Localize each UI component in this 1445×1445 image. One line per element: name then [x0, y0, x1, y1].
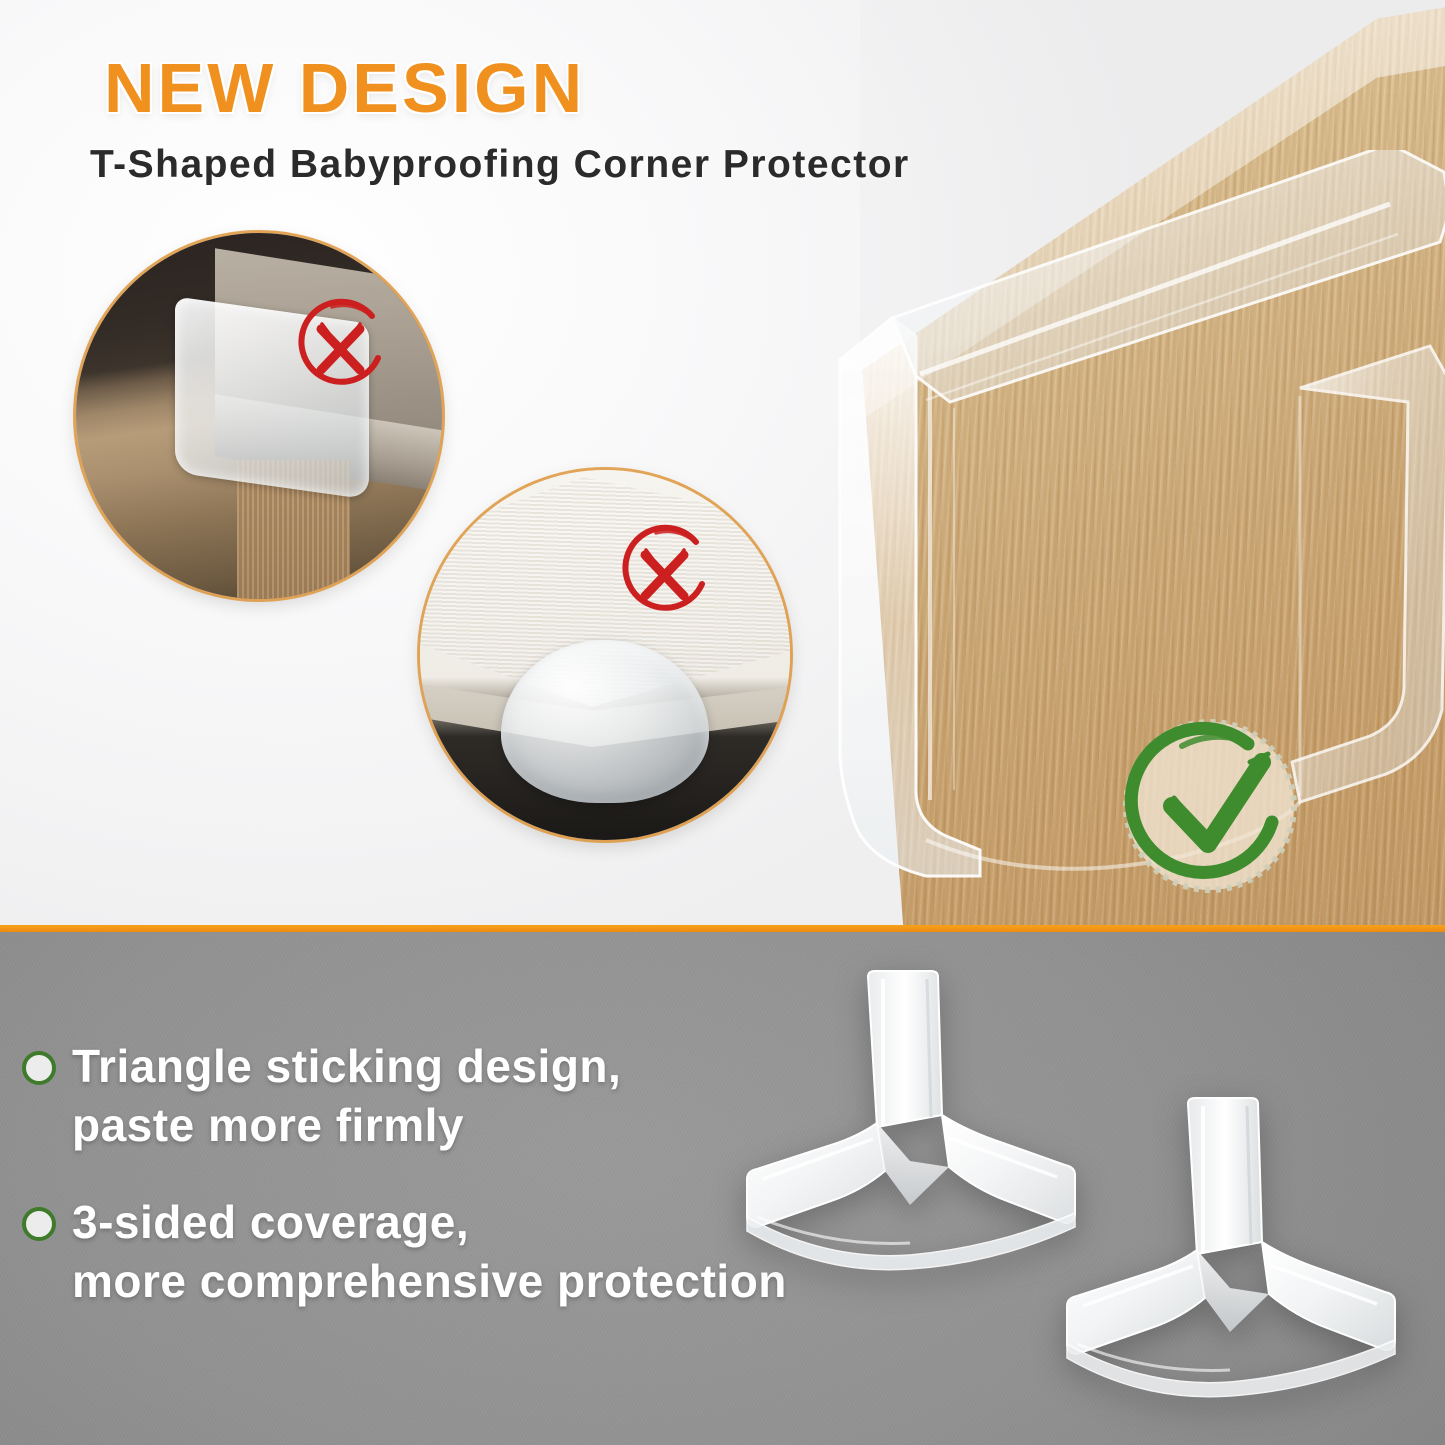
reject-x-icon [612, 524, 716, 628]
green-ring-bullet-icon [22, 1051, 56, 1085]
protector-left-arm [747, 1123, 885, 1227]
product-shot-t-protector-front [735, 965, 1085, 1285]
product-marketing-image: NEW DESIGN T-Shaped Babyproofing Corner … [0, 0, 1445, 1445]
protector-left-arm [1067, 1250, 1205, 1354]
list-item: Triangle sticking design, paste more fir… [22, 1037, 802, 1155]
product-shot-t-protector-back [1055, 1092, 1405, 1410]
orange-divider [0, 925, 1445, 932]
reject-x-icon [288, 298, 392, 402]
green-ring-bullet-icon [22, 1207, 56, 1241]
protector-right-arm [1262, 1242, 1395, 1350]
bullet-text: Triangle sticking design, paste more fir… [72, 1037, 621, 1155]
approved-check-badge [1122, 718, 1298, 894]
subtitle-product-name: T-Shaped Babyproofing Corner Protector [90, 143, 910, 187]
feature-bullet-list: Triangle sticking design, paste more fir… [22, 1037, 802, 1349]
inset-photo-ball-shaped-protector [420, 470, 790, 840]
list-item: 3-sided coverage, more comprehensive pro… [22, 1193, 802, 1311]
inset-photo-l-shaped-protector [76, 233, 442, 599]
bullet-text: 3-sided coverage, more comprehensive pro… [72, 1193, 787, 1311]
top-hero-section: NEW DESIGN T-Shaped Babyproofing Corner … [0, 0, 1445, 925]
headline-new-design: NEW DESIGN [104, 48, 585, 128]
